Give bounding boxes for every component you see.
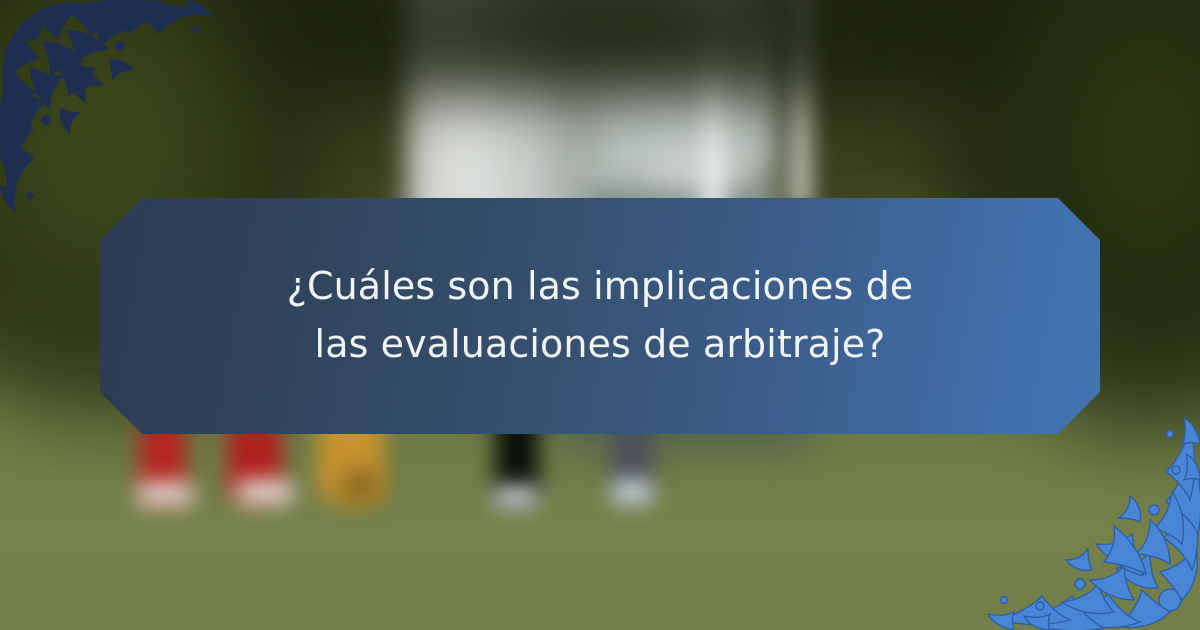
background-player-sock xyxy=(492,486,540,508)
share-card-canvas: ¿Cuáles son las implicaciones de las eva… xyxy=(0,0,1200,630)
background-ball xyxy=(338,468,384,504)
background-player-shoe xyxy=(236,480,294,504)
background-player-shoe xyxy=(136,482,194,506)
title-banner: ¿Cuáles son las implicaciones de las eva… xyxy=(100,198,1100,434)
background-player-sock xyxy=(610,480,654,504)
banner-title-text: ¿Cuáles son las implicaciones de las eva… xyxy=(240,258,960,374)
